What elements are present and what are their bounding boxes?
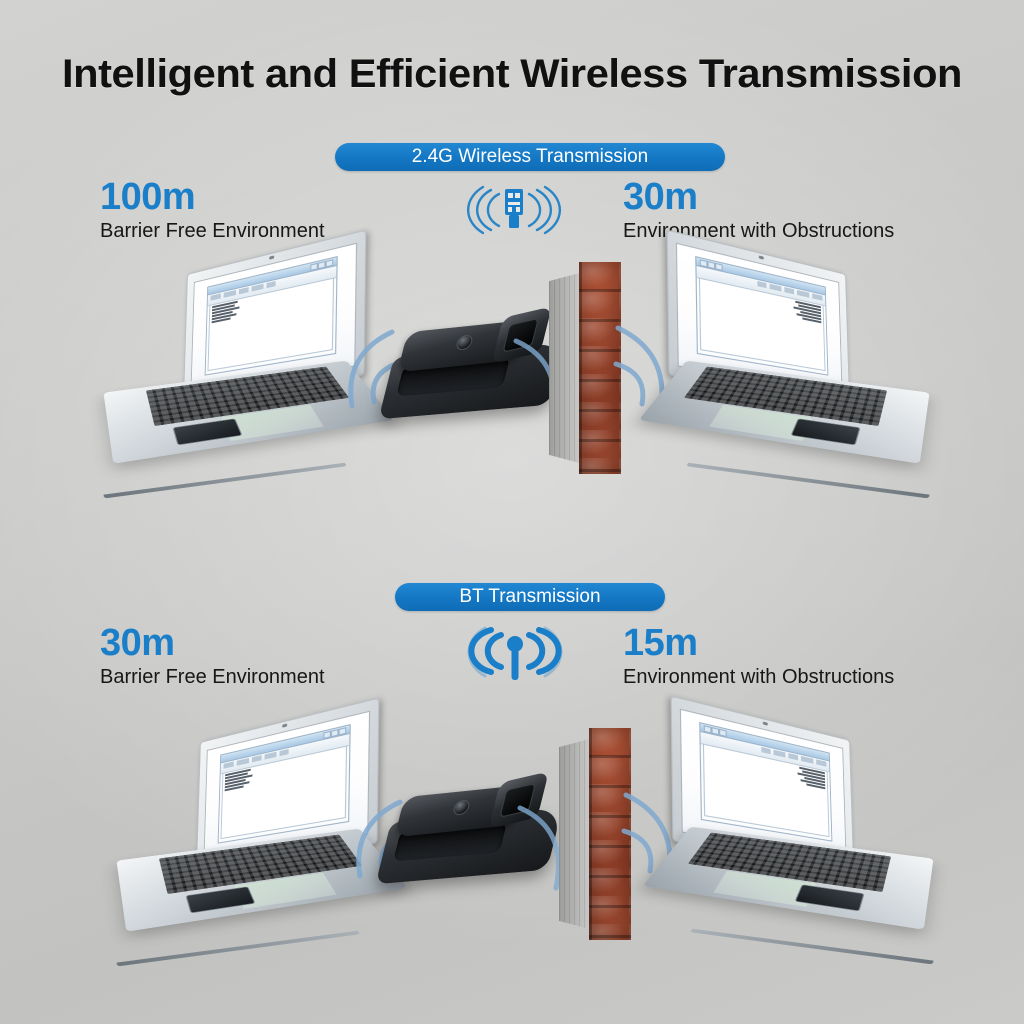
distance-block-left-24g: 100m Barrier Free Environment xyxy=(100,178,325,243)
distance-value-30m-bt: 30m xyxy=(100,624,325,663)
laptop-front-edge xyxy=(104,463,348,499)
distance-description-right-bt: Environment with Obstructions xyxy=(623,665,894,689)
scanner-trigger-button xyxy=(455,334,474,351)
app-window xyxy=(699,721,832,841)
laptop-front-edge xyxy=(690,929,934,965)
laptop-touchpad xyxy=(173,419,243,446)
laptop-base xyxy=(639,361,930,464)
distance-value-100m: 100m xyxy=(100,178,325,217)
brick-wall-obstruction-24g xyxy=(549,262,621,474)
distance-description-left-bt: Barrier Free Environment xyxy=(100,665,325,689)
laptop-touchpad xyxy=(186,887,256,914)
distance-value-15m: 15m xyxy=(623,624,894,663)
laptop-right-24g xyxy=(668,272,928,487)
usb-dongle-signal-icon xyxy=(455,183,573,237)
window-text-lines xyxy=(797,766,825,789)
window-text-lines xyxy=(212,300,240,323)
laptop-touchpad xyxy=(790,419,860,446)
window-text-lines xyxy=(793,300,821,323)
webcam-icon xyxy=(282,724,287,728)
distance-description-left-24g: Barrier Free Environment xyxy=(100,219,325,243)
laptop-touchpad xyxy=(794,885,864,912)
distance-description-right-24g: Environment with Obstructions xyxy=(623,219,894,243)
badge-bt-transmission: BT Transmission xyxy=(395,583,665,611)
distance-value-30m-24g: 30m xyxy=(623,178,894,217)
window-text-lines xyxy=(225,768,253,791)
scanner-trigger-button xyxy=(452,799,471,816)
badge-2-4g-wireless-transmission: 2.4G Wireless Transmission xyxy=(335,143,725,171)
laptop-base xyxy=(643,827,934,930)
app-window xyxy=(695,255,828,375)
laptop-front-edge xyxy=(117,931,361,967)
app-window xyxy=(205,255,338,375)
distance-block-right-bt: 15m Environment with Obstructions xyxy=(623,624,894,689)
distance-block-right-24g: 30m Environment with Obstructions xyxy=(623,178,894,243)
antenna-signal-icon xyxy=(455,622,575,680)
distance-block-left-bt: 30m Barrier Free Environment xyxy=(100,624,325,689)
laptop-front-edge xyxy=(686,463,930,499)
webcam-icon xyxy=(763,722,768,726)
webcam-icon xyxy=(759,256,764,260)
page-title: Intelligent and Efficient Wireless Trans… xyxy=(0,52,1024,97)
infographic-canvas: Intelligent and Efficient Wireless Trans… xyxy=(0,0,1024,1024)
laptop-right-bt xyxy=(672,738,932,953)
webcam-icon xyxy=(269,256,274,260)
